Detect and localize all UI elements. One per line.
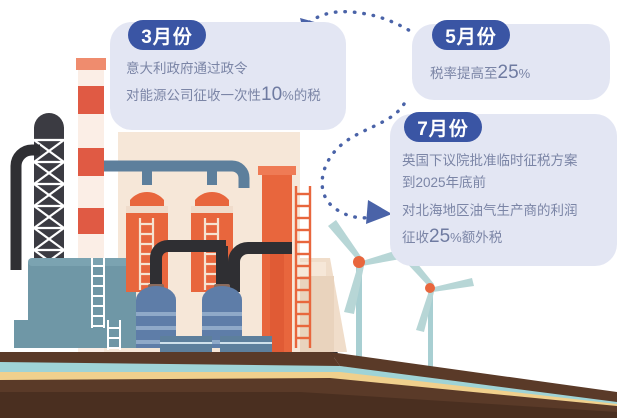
- march-line2-percent: %: [282, 88, 294, 103]
- may-line1-lead: 税率提高至: [430, 66, 498, 81]
- july-line4-percent: %: [450, 230, 462, 245]
- july-line4-tail: 额外税: [462, 230, 503, 245]
- callout-july-line-3: 对北海地区油气生产商的利润: [402, 200, 578, 222]
- callout-july-text: 英国下议院批准临时征税方案 到2025年底前 对北海地区油气生产商的利润 征收2…: [402, 150, 578, 252]
- callout-july-line-2: 到2025年底前: [402, 172, 578, 194]
- march-line2-lead: 对能源公司征收一次性: [126, 88, 261, 103]
- callout-july-line-4: 征收25%额外税: [402, 222, 578, 253]
- july-line4-lead: 征收: [402, 230, 429, 245]
- callout-july-line-1: 英国下议院批准临时征税方案: [402, 150, 578, 172]
- badge-march-label: 3月份: [141, 22, 193, 49]
- may-line1-number: 25: [498, 62, 519, 83]
- callout-march-line-1: 意大利政府通过政令: [126, 58, 321, 80]
- infographic-canvas: 3月份 意大利政府通过政令 对能源公司征收一次性10%的税 5月份 税率提高至2…: [0, 0, 617, 418]
- badge-may: 5月份: [432, 20, 510, 50]
- badge-july: 7月份: [404, 112, 482, 142]
- may-line1-percent: %: [519, 66, 531, 81]
- callout-march-line-2: 对能源公司征收一次性10%的税: [126, 80, 321, 111]
- march-line2-number: 10: [261, 84, 282, 105]
- march-line2-tail: 的税: [294, 88, 321, 103]
- callout-may-text: 税率提高至25%: [430, 58, 530, 89]
- badge-march: 3月份: [128, 20, 206, 50]
- july-line4-number: 25: [429, 226, 450, 247]
- callout-march-text: 意大利政府通过政令 对能源公司征收一次性10%的税: [126, 58, 321, 111]
- badge-may-label: 5月份: [445, 22, 497, 49]
- callout-may-line-1: 税率提高至25%: [430, 58, 530, 89]
- badge-july-label: 7月份: [417, 114, 469, 141]
